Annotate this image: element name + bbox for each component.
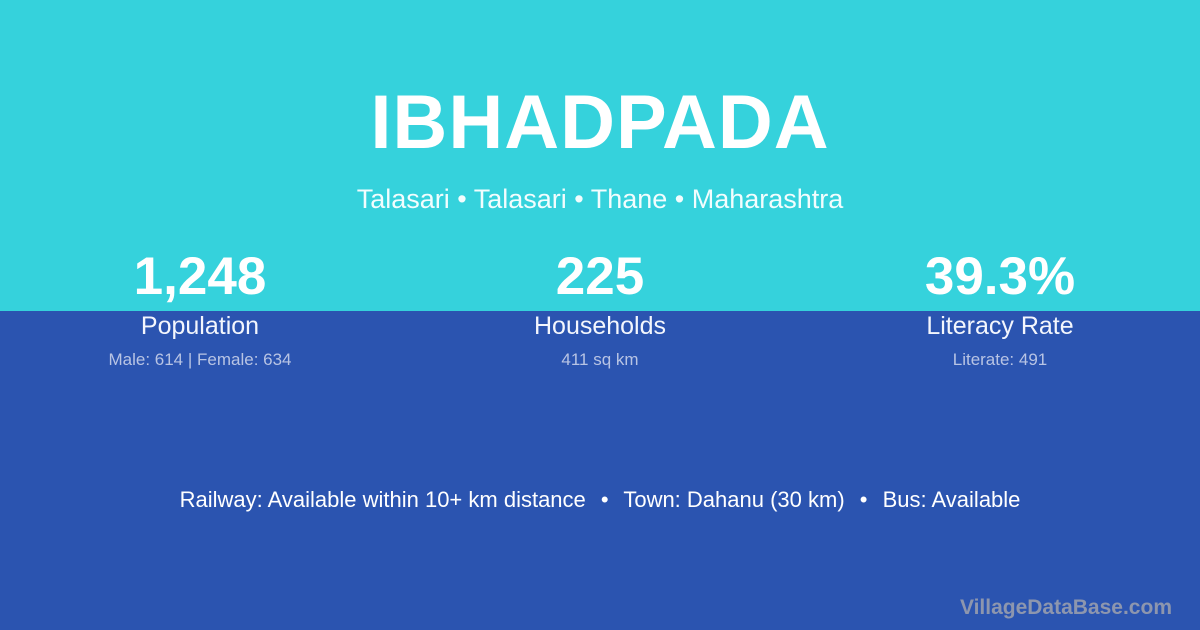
breadcrumb: Talasari • Talasari • Thane • Maharashtr… xyxy=(0,182,1200,216)
stat-households-value: 225 xyxy=(400,246,800,308)
village-info-card: IBHADPADA Talasari • Talasari • Thane • … xyxy=(0,0,1200,630)
stat-literacy-value: 39.3% xyxy=(800,246,1200,308)
stat-population-breakdown: Male: 614 | Female: 634 xyxy=(0,349,400,371)
page-title: IBHADPADA xyxy=(0,78,1200,168)
stat-population: 1,248 Population Male: 614 | Female: 634 xyxy=(0,246,400,371)
site-watermark: VillageDataBase.com xyxy=(960,594,1172,622)
amenity-railway: Railway: Available within 10+ km distanc… xyxy=(180,487,586,512)
stat-literacy: 39.3% Literacy Rate Literate: 491 xyxy=(800,246,1200,371)
stat-households: 225 Households 411 sq km xyxy=(400,246,800,371)
stat-population-label: Population xyxy=(0,311,400,341)
stat-population-value: 1,248 xyxy=(0,246,400,308)
stats-row: 1,248 Population Male: 614 | Female: 634… xyxy=(0,246,1200,371)
stat-literacy-count: Literate: 491 xyxy=(800,349,1200,371)
stat-literacy-label: Literacy Rate xyxy=(800,311,1200,341)
amenity-separator-2: • xyxy=(851,485,877,515)
amenity-bus: Bus: Available xyxy=(883,487,1021,512)
amenity-town: Town: Dahanu (30 km) xyxy=(623,487,844,512)
amenities-line: Railway: Available within 10+ km distanc… xyxy=(0,485,1200,515)
stat-households-label: Households xyxy=(400,311,800,341)
amenity-separator-1: • xyxy=(592,485,618,515)
stat-households-area: 411 sq km xyxy=(400,349,800,371)
